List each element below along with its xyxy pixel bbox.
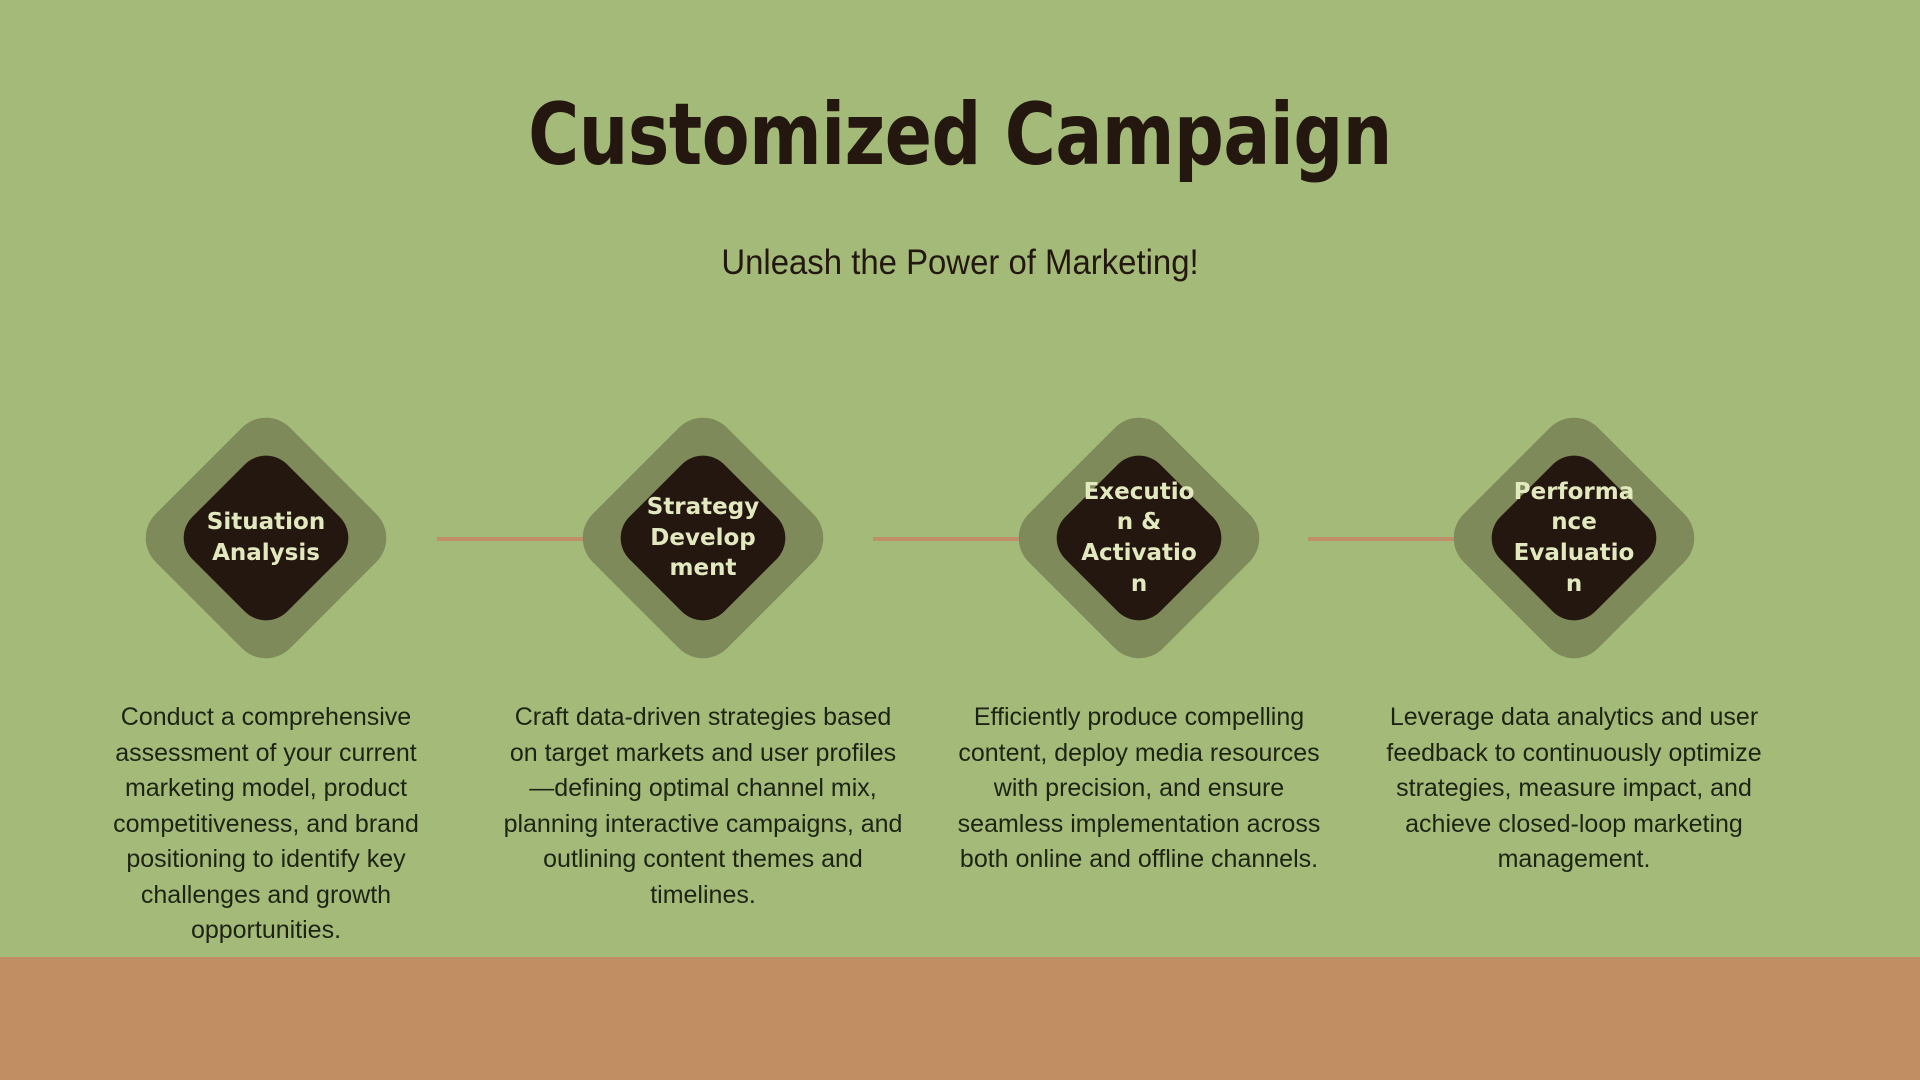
step-2-description: Craft data-driven strategies based on ta… <box>503 700 903 913</box>
step-3-label: Execution & Activation <box>1077 468 1201 608</box>
step-1-label: Situation Analysis <box>204 468 328 608</box>
step-2-label: Strategy Development <box>641 468 765 608</box>
step-4-description: Leverage data analytics and user feedbac… <box>1372 700 1777 878</box>
slide-canvas: Customized Campaign Unleash the Power of… <box>0 0 1920 1080</box>
process-steps: Situation Analysis Conduct a comprehensi… <box>0 0 1920 1080</box>
step-1-description: Conduct a comprehensive assessment of yo… <box>101 700 431 949</box>
footer-band <box>0 957 1920 1080</box>
step-4-label: Performance Evaluation <box>1512 468 1636 608</box>
step-3-description: Efficiently produce compelling content, … <box>942 700 1337 878</box>
